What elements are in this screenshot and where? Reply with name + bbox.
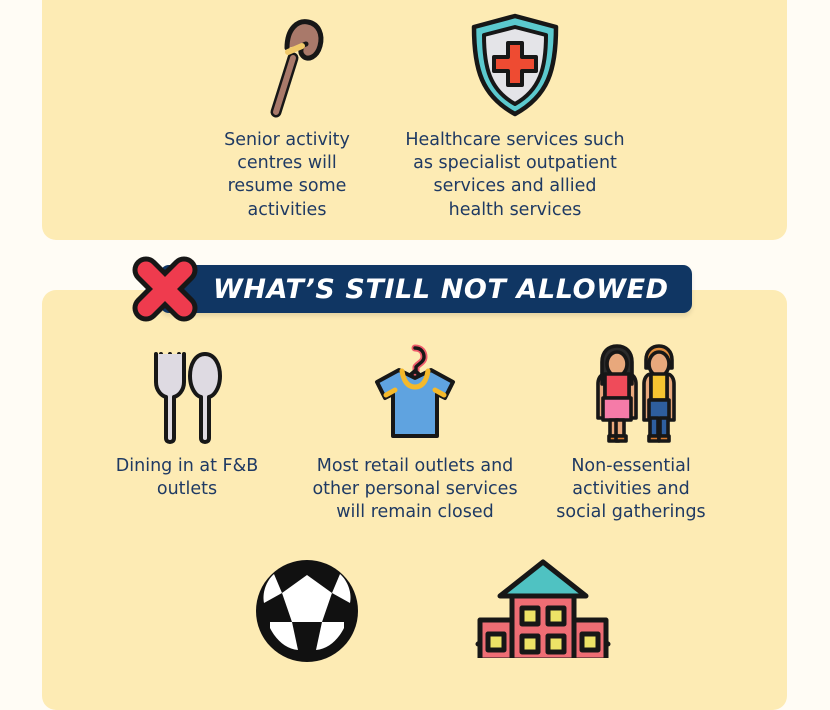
- item-healthcare-services: Healthcare services such as specialist o…: [396, 8, 634, 222]
- not-allowed-banner: WHAT’S STILL NOT ALLOWED: [160, 265, 692, 313]
- infographic-page: Senior activity centres will resume some…: [0, 0, 830, 622]
- item-caption: Healthcare services such as specialist o…: [396, 129, 634, 222]
- item-schools: [462, 548, 624, 658]
- banner-label: WHAT’S STILL NOT ALLOWED: [213, 274, 669, 305]
- two-people-icon: [552, 338, 710, 446]
- item-dining-in: Dining in at F&B outlets: [106, 344, 268, 501]
- health-shield-cross-icon: [396, 8, 634, 120]
- item-caption: Dining in at F&B outlets: [106, 455, 268, 501]
- tshirt-on-hanger-icon: [290, 338, 540, 446]
- item-social-gatherings: Non-essential activities and social gath…: [552, 338, 710, 525]
- item-caption: Senior activity centres will resume some…: [206, 129, 368, 222]
- walking-cane-icon: [206, 8, 368, 120]
- item-sports: [226, 556, 388, 666]
- item-retail-outlets: Most retail outlets and other personal s…: [290, 338, 540, 525]
- soccer-ball-icon: [226, 556, 388, 666]
- fork-and-spoon-icon: [106, 344, 268, 446]
- item-caption: Most retail outlets and other personal s…: [290, 455, 540, 525]
- red-cross-x-icon: [122, 246, 208, 332]
- item-caption: Non-essential activities and social gath…: [552, 455, 710, 525]
- item-senior-activity: Senior activity centres will resume some…: [206, 8, 368, 222]
- school-building-icon: [462, 548, 624, 658]
